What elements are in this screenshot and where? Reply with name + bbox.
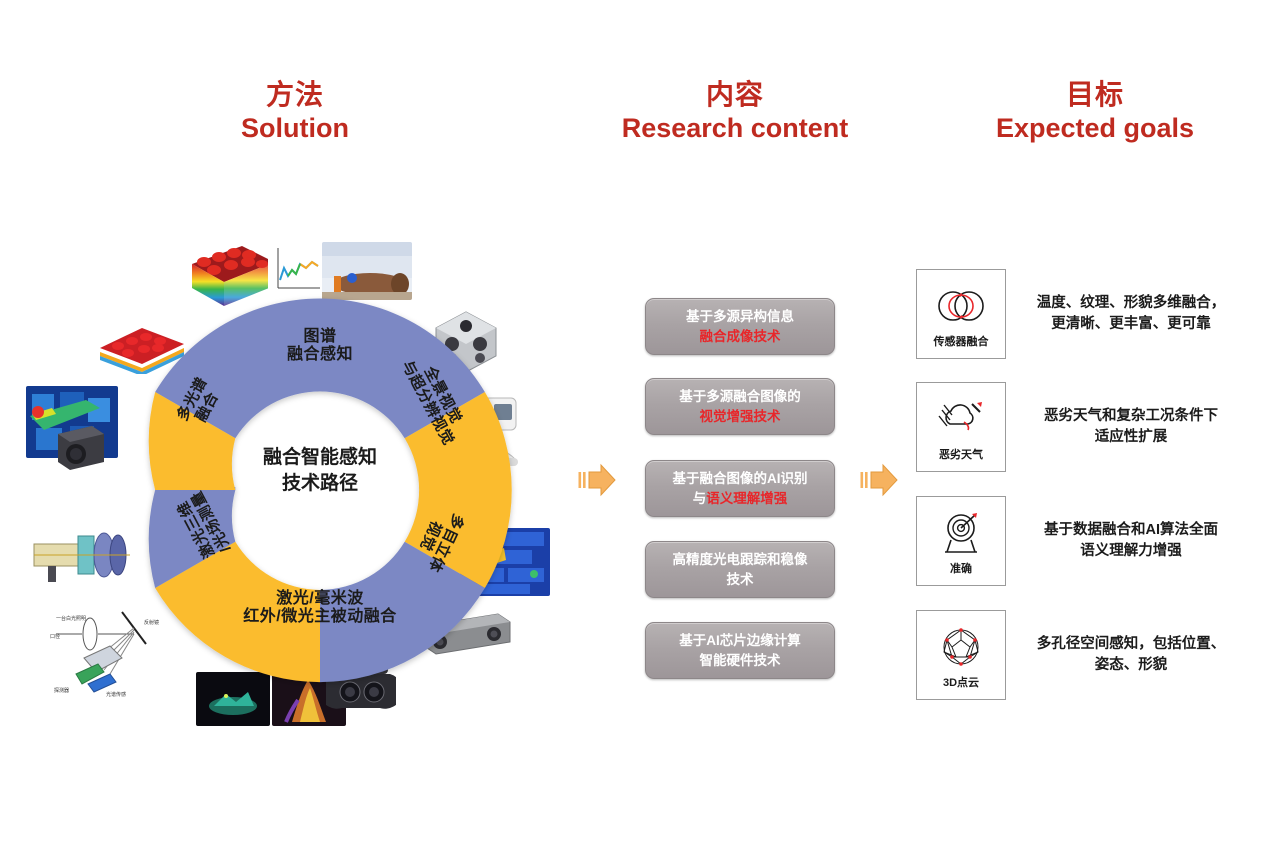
- right-arrow-icon-solution-to-content: [575, 458, 619, 502]
- goal-card-accuracy[interactable]: 准确: [916, 496, 1006, 586]
- research-box-4[interactable]: 高精度光电跟踪和稳像 技术: [645, 541, 835, 598]
- research-box-1[interactable]: 基于多源异构信息 融合成像技术: [645, 298, 835, 355]
- research-box-3[interactable]: 基于融合图像的AI识别 与语义理解增强: [645, 460, 835, 517]
- goal-row-point-cloud: 3D点云 多孔径空间感知，包括位置、 姿态、形貌: [916, 611, 1236, 699]
- heading-goals-en: Expected goals: [965, 113, 1225, 145]
- technology-path-wheel: 图谱 融合感知 全景视觉 与超分辨视觉 多目立体 视觉 激光/毫米波 红外/微光…: [120, 290, 520, 690]
- diagram-canvas: 方法 Solution 内容 Research content 目标 Expec…: [0, 0, 1268, 866]
- heading-goals-cn: 目标: [965, 78, 1225, 111]
- research-box-2-line2: 视觉增强技术: [700, 407, 781, 427]
- research-box-5[interactable]: 基于AI芯片边缘计算 智能硬件技术: [645, 622, 835, 679]
- goal-card-bad-weather[interactable]: 恶劣天气: [916, 382, 1006, 472]
- research-box-3-line2: 与语义理解增强: [693, 489, 788, 509]
- research-box-2[interactable]: 基于多源融合图像的 视觉增强技术: [645, 378, 835, 435]
- svg-text:光谱传感: 光谱传感: [106, 691, 126, 698]
- heading-research-content: 内容 Research content: [600, 78, 870, 145]
- sensor-fusion-icon: [934, 280, 988, 332]
- goal-text-bad-weather: 恶劣天气和复杂工况条件下 适应性扩展: [1026, 406, 1236, 448]
- goal-row-sensor-fusion: 传感器融合 温度、纹理、形貌多维融合， 更清晰、更丰富、更可靠: [916, 270, 1236, 358]
- goal-text-point-cloud: 多孔径空间感知，包括位置、 姿态、形貌: [1026, 634, 1236, 676]
- research-box-3-line1: 基于融合图像的AI识别: [673, 469, 808, 489]
- goal-card-point-cloud[interactable]: 3D点云: [916, 610, 1006, 700]
- goal-row-accuracy: 准确 基于数据融合和AI算法全面 语义理解力增强: [916, 497, 1236, 585]
- svg-text:口径: 口径: [50, 633, 60, 640]
- goal-row-bad-weather: 恶劣天气 恶劣天气和复杂工况条件下 适应性扩展: [916, 383, 1236, 471]
- goal-caption-point-cloud: 3D点云: [943, 674, 979, 690]
- svg-text:一台白光照明: 一台白光照明: [56, 615, 86, 622]
- wheel-center-label: 融合智能感知 技术路径: [210, 445, 430, 496]
- goal-caption-bad-weather: 恶劣天气: [939, 446, 983, 462]
- goal-card-sensor-fusion[interactable]: 传感器融合: [916, 269, 1006, 359]
- target-accuracy-icon: [937, 507, 985, 559]
- research-box-2-line1: 基于多源融合图像的: [679, 387, 801, 407]
- goal-text-accuracy: 基于数据融合和AI算法全面 语义理解力增强: [1026, 520, 1236, 562]
- goal-caption-sensor-fusion: 传感器融合: [934, 333, 989, 349]
- goal-caption-accuracy: 准确: [950, 560, 972, 576]
- svg-text:探测器: 探测器: [54, 687, 69, 694]
- goal-text-sensor-fusion: 温度、纹理、形貌多维融合， 更清晰、更丰富、更可靠: [1026, 293, 1236, 335]
- right-arrow-icon-content-to-goals: [857, 458, 901, 502]
- bad-weather-icon: [936, 393, 986, 445]
- research-box-1-line1: 基于多源异构信息: [686, 307, 794, 327]
- thumbnail-camera-module: [52, 422, 108, 472]
- point-cloud-icon: [938, 621, 984, 673]
- heading-content-en: Research content: [600, 113, 870, 145]
- research-box-4-line2: 技术: [727, 570, 754, 590]
- research-box-3-highlight: 语义理解增强: [706, 491, 787, 506]
- research-box-1-line2: 融合成像技术: [700, 327, 781, 347]
- heading-solution-en: Solution: [175, 113, 415, 145]
- research-box-4-line1: 高精度光电跟踪和稳像: [673, 550, 808, 570]
- research-box-3-prefix: 与: [693, 491, 707, 506]
- research-box-5-line1: 基于AI芯片边缘计算: [679, 631, 801, 651]
- heading-solution-cn: 方法: [175, 78, 415, 111]
- heading-expected-goals: 目标 Expected goals: [965, 78, 1225, 145]
- research-box-5-line2: 智能硬件技术: [700, 651, 781, 671]
- wheel-segment-top[interactable]: [155, 299, 485, 439]
- heading-solution: 方法 Solution: [175, 78, 415, 145]
- heading-content-cn: 内容: [600, 78, 870, 111]
